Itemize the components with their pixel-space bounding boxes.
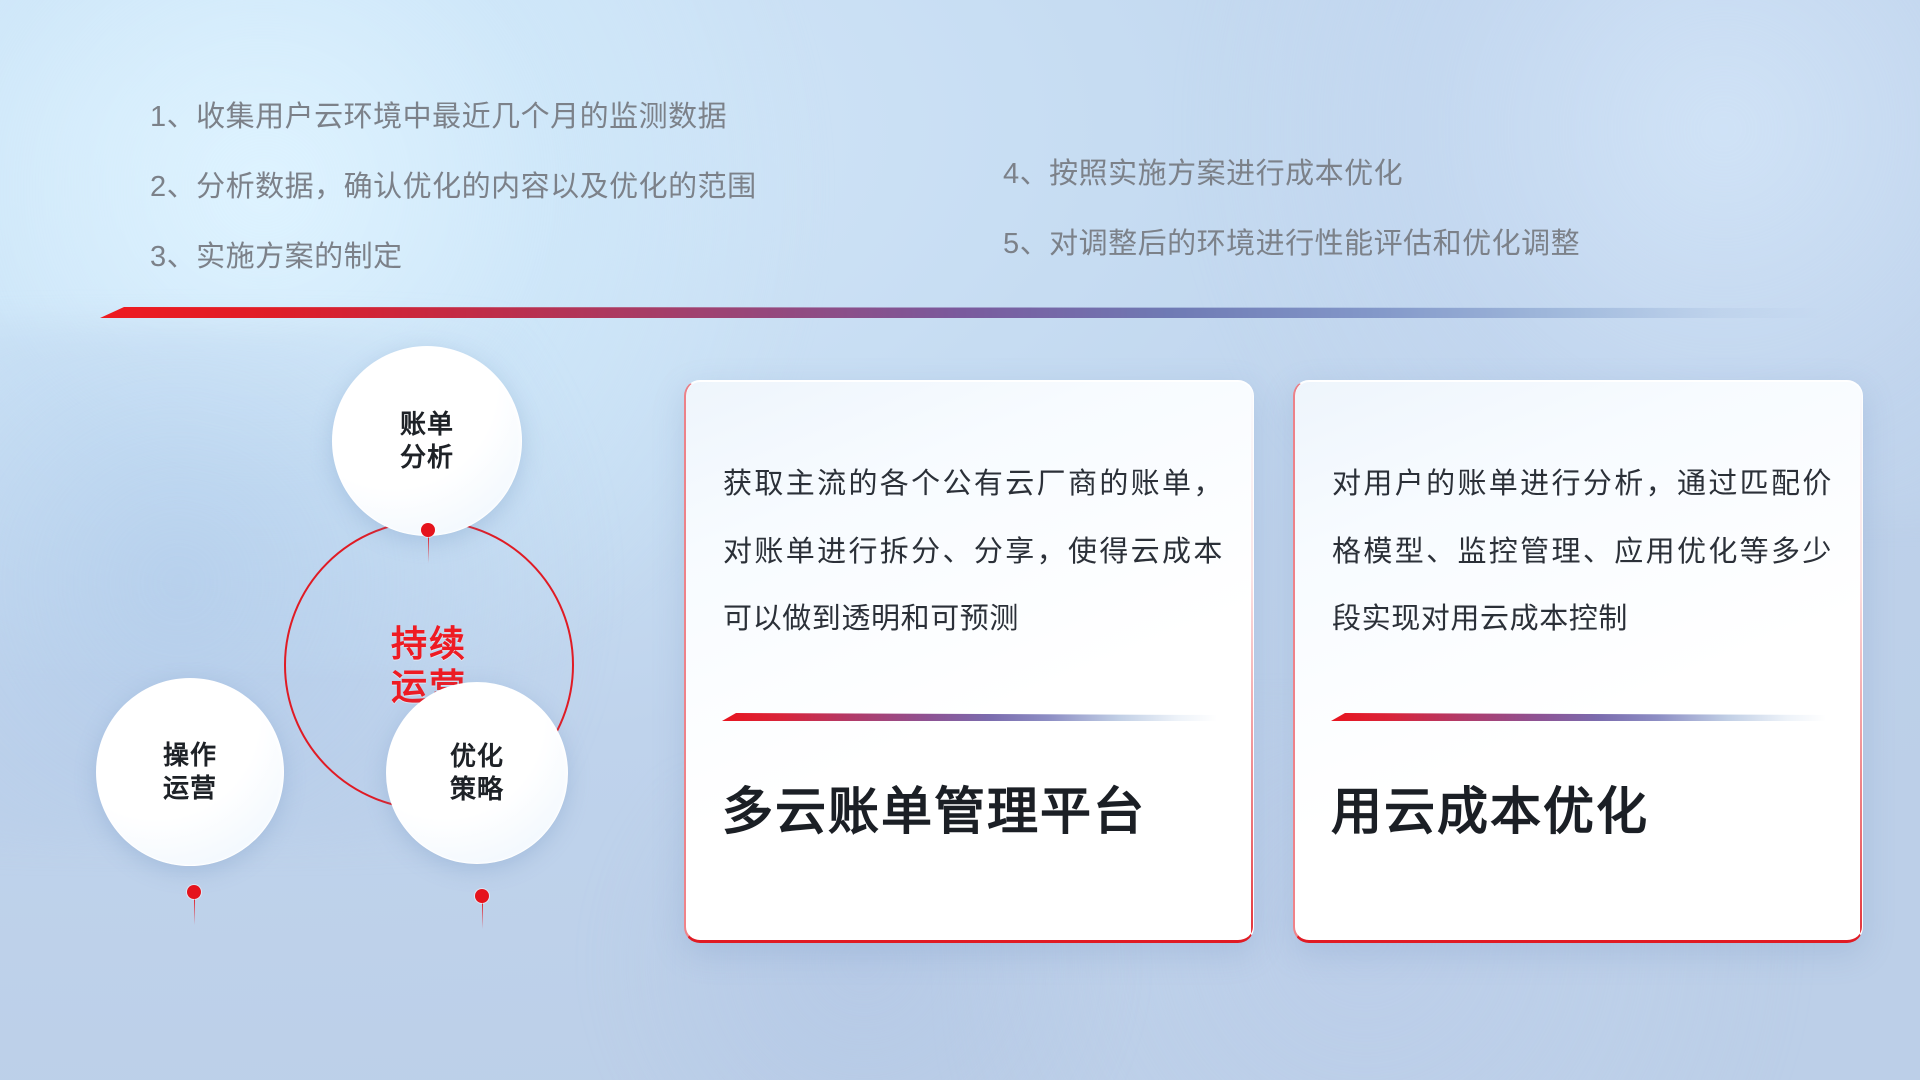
diagram-node-operations[interactable]: 操作 运营	[96, 678, 284, 866]
card-2-gradient-rule-fill	[1331, 713, 1826, 721]
top-gradient-divider-fill	[100, 307, 1825, 318]
card-1-title: 多云账单管理平台	[722, 781, 1223, 842]
diagram-node-optimization-strategy-line1: 优化	[450, 740, 504, 773]
diagram-node-operations-line1: 操作	[163, 739, 217, 772]
step-item-3: 3、实施方案的制定	[150, 243, 757, 272]
card-2-title: 用云成本优化	[1331, 781, 1832, 842]
diagram-marker-dot-right	[475, 889, 489, 903]
top-gradient-divider	[100, 307, 1825, 318]
step-item-2: 2、分析数据，确认优化的内容以及优化的范围	[150, 173, 757, 202]
card-1-gradient-rule	[722, 713, 1217, 721]
continuous-operation-diagram: 持续 运营 账单 分析 操作 运营 优化 策略	[96, 352, 666, 952]
card-multicloud-billing-platform[interactable]: 获取主流的各个公有云厂商的账单，对账单进行拆分、分享，使得云成本可以做到透明和可…	[684, 380, 1254, 943]
step-item-1: 1、收集用户云环境中最近几个月的监测数据	[150, 103, 757, 132]
slide-stage: 1、收集用户云环境中最近几个月的监测数据 2、分析数据，确认优化的内容以及优化的…	[0, 0, 1920, 1080]
diagram-marker-stem-top	[428, 535, 430, 563]
diagram-marker-stem-left	[194, 897, 196, 925]
diagram-node-optimization-strategy[interactable]: 优化 策略	[386, 682, 568, 864]
steps-left-column: 1、收集用户云环境中最近几个月的监测数据 2、分析数据，确认优化的内容以及优化的…	[150, 103, 757, 313]
diagram-node-bill-analysis-line2: 分析	[400, 441, 454, 474]
card-1-body-text: 获取主流的各个公有云厂商的账单，对账单进行拆分、分享，使得云成本可以做到透明和可…	[723, 451, 1223, 654]
diagram-marker-dot-top	[421, 523, 435, 537]
diagram-node-optimization-strategy-line2: 策略	[450, 773, 504, 806]
card-cloud-cost-optimization[interactable]: 对用户的账单进行分析，通过匹配价格模型、监控管理、应用优化等多少段实现对用云成本…	[1293, 380, 1863, 943]
card-2-gradient-rule	[1331, 713, 1826, 721]
card-1-gradient-rule-fill	[722, 713, 1217, 721]
step-item-4: 4、按照实施方案进行成本优化	[1003, 160, 1580, 189]
card-2-body-text: 对用户的账单进行分析，通过匹配价格模型、监控管理、应用优化等多少段实现对用云成本…	[1332, 451, 1832, 654]
diagram-node-operations-line2: 运营	[163, 772, 217, 805]
diagram-node-bill-analysis[interactable]: 账单 分析	[332, 346, 522, 536]
diagram-marker-stem-right	[482, 901, 484, 929]
step-item-5: 5、对调整后的环境进行性能评估和优化调整	[1003, 230, 1580, 259]
steps-right-column: 4、按照实施方案进行成本优化 5、对调整后的环境进行性能评估和优化调整	[1003, 160, 1580, 300]
diagram-marker-dot-left	[187, 885, 201, 899]
diagram-node-bill-analysis-line1: 账单	[400, 408, 454, 441]
diagram-center-label-line1: 持续	[391, 622, 467, 665]
